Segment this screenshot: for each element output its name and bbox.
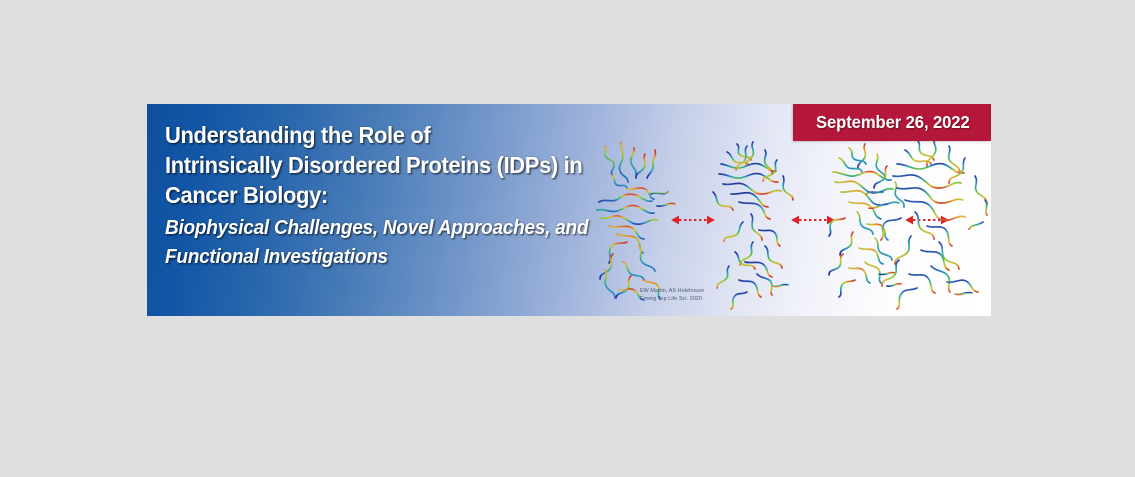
title-line-1: Understanding the Role of: [165, 120, 595, 150]
banner-subtitle-block: Biophysical Challenges, Novel Approaches…: [165, 213, 625, 271]
protein-structure-2: [713, 142, 793, 309]
figure-citation: EW Martin, AS Holehouse Emerg Top Life S…: [640, 288, 704, 303]
title-line-2: Intrinsically Disordered Proteins (IDPs)…: [165, 150, 595, 180]
title-line-3: Cancer Biology:: [165, 180, 595, 210]
banner-title-block: Understanding the Role of Intrinsically …: [165, 120, 625, 271]
citation-line-source: Emerg Top Life Sci. 2020: [640, 296, 704, 304]
subtitle-line-1: Biophysical Challenges, Novel Approaches…: [165, 213, 593, 242]
seminar-banner: September 26, 2022: [147, 104, 991, 316]
protein-structure-4: [866, 138, 987, 309]
citation-line-authors: EW Martin, AS Holehouse: [640, 288, 704, 296]
subtitle-line-2: Functional Investigations: [165, 242, 593, 271]
date-badge: September 26, 2022: [793, 104, 991, 141]
date-badge-label: September 26, 2022: [816, 112, 970, 133]
